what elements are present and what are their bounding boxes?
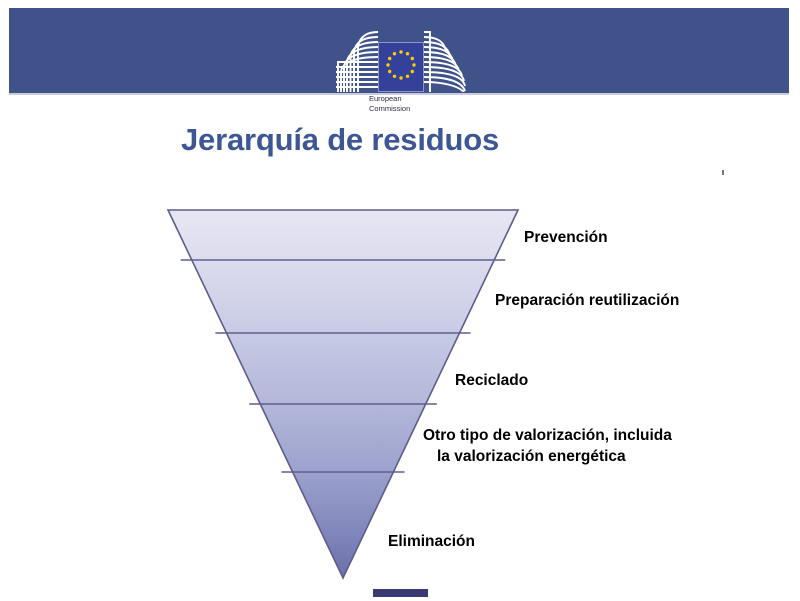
pyramid-svg — [160, 203, 520, 585]
ec-logo-line-1: European — [369, 94, 464, 104]
tier-label-otro-tipo-de-valorizacion: Otro tipo de valorización, incluidala va… — [423, 425, 672, 467]
tier-label-preparacion-reutilizacion: Preparación reutilización — [495, 290, 679, 311]
european-commission-logo: European Commission — [336, 30, 466, 108]
ec-logo-line-2: Commission — [369, 104, 464, 114]
tier-label-prevencion: Prevención — [524, 227, 608, 248]
ec-logo-right-wing-icon — [424, 30, 466, 92]
footer-accent-bar — [373, 589, 428, 597]
ec-logo-left-wing-icon — [336, 30, 378, 92]
ec-logo-wordmark: European Commission — [369, 94, 464, 113]
valorizacion-line-2: la valorización energética — [423, 446, 626, 467]
pyramid-body — [168, 210, 518, 578]
eu-flag-icon — [378, 42, 424, 92]
waste-hierarchy-pyramid — [160, 203, 520, 585]
tier-label-reciclado: Reciclado — [455, 370, 528, 391]
scan-artifact-speck — [722, 170, 724, 175]
tier-label-eliminacion: Eliminación — [388, 531, 475, 552]
valorizacion-line-1: Otro tipo de valorización, incluida — [423, 427, 672, 444]
page-title: Jerarquía de residuos — [181, 122, 499, 158]
